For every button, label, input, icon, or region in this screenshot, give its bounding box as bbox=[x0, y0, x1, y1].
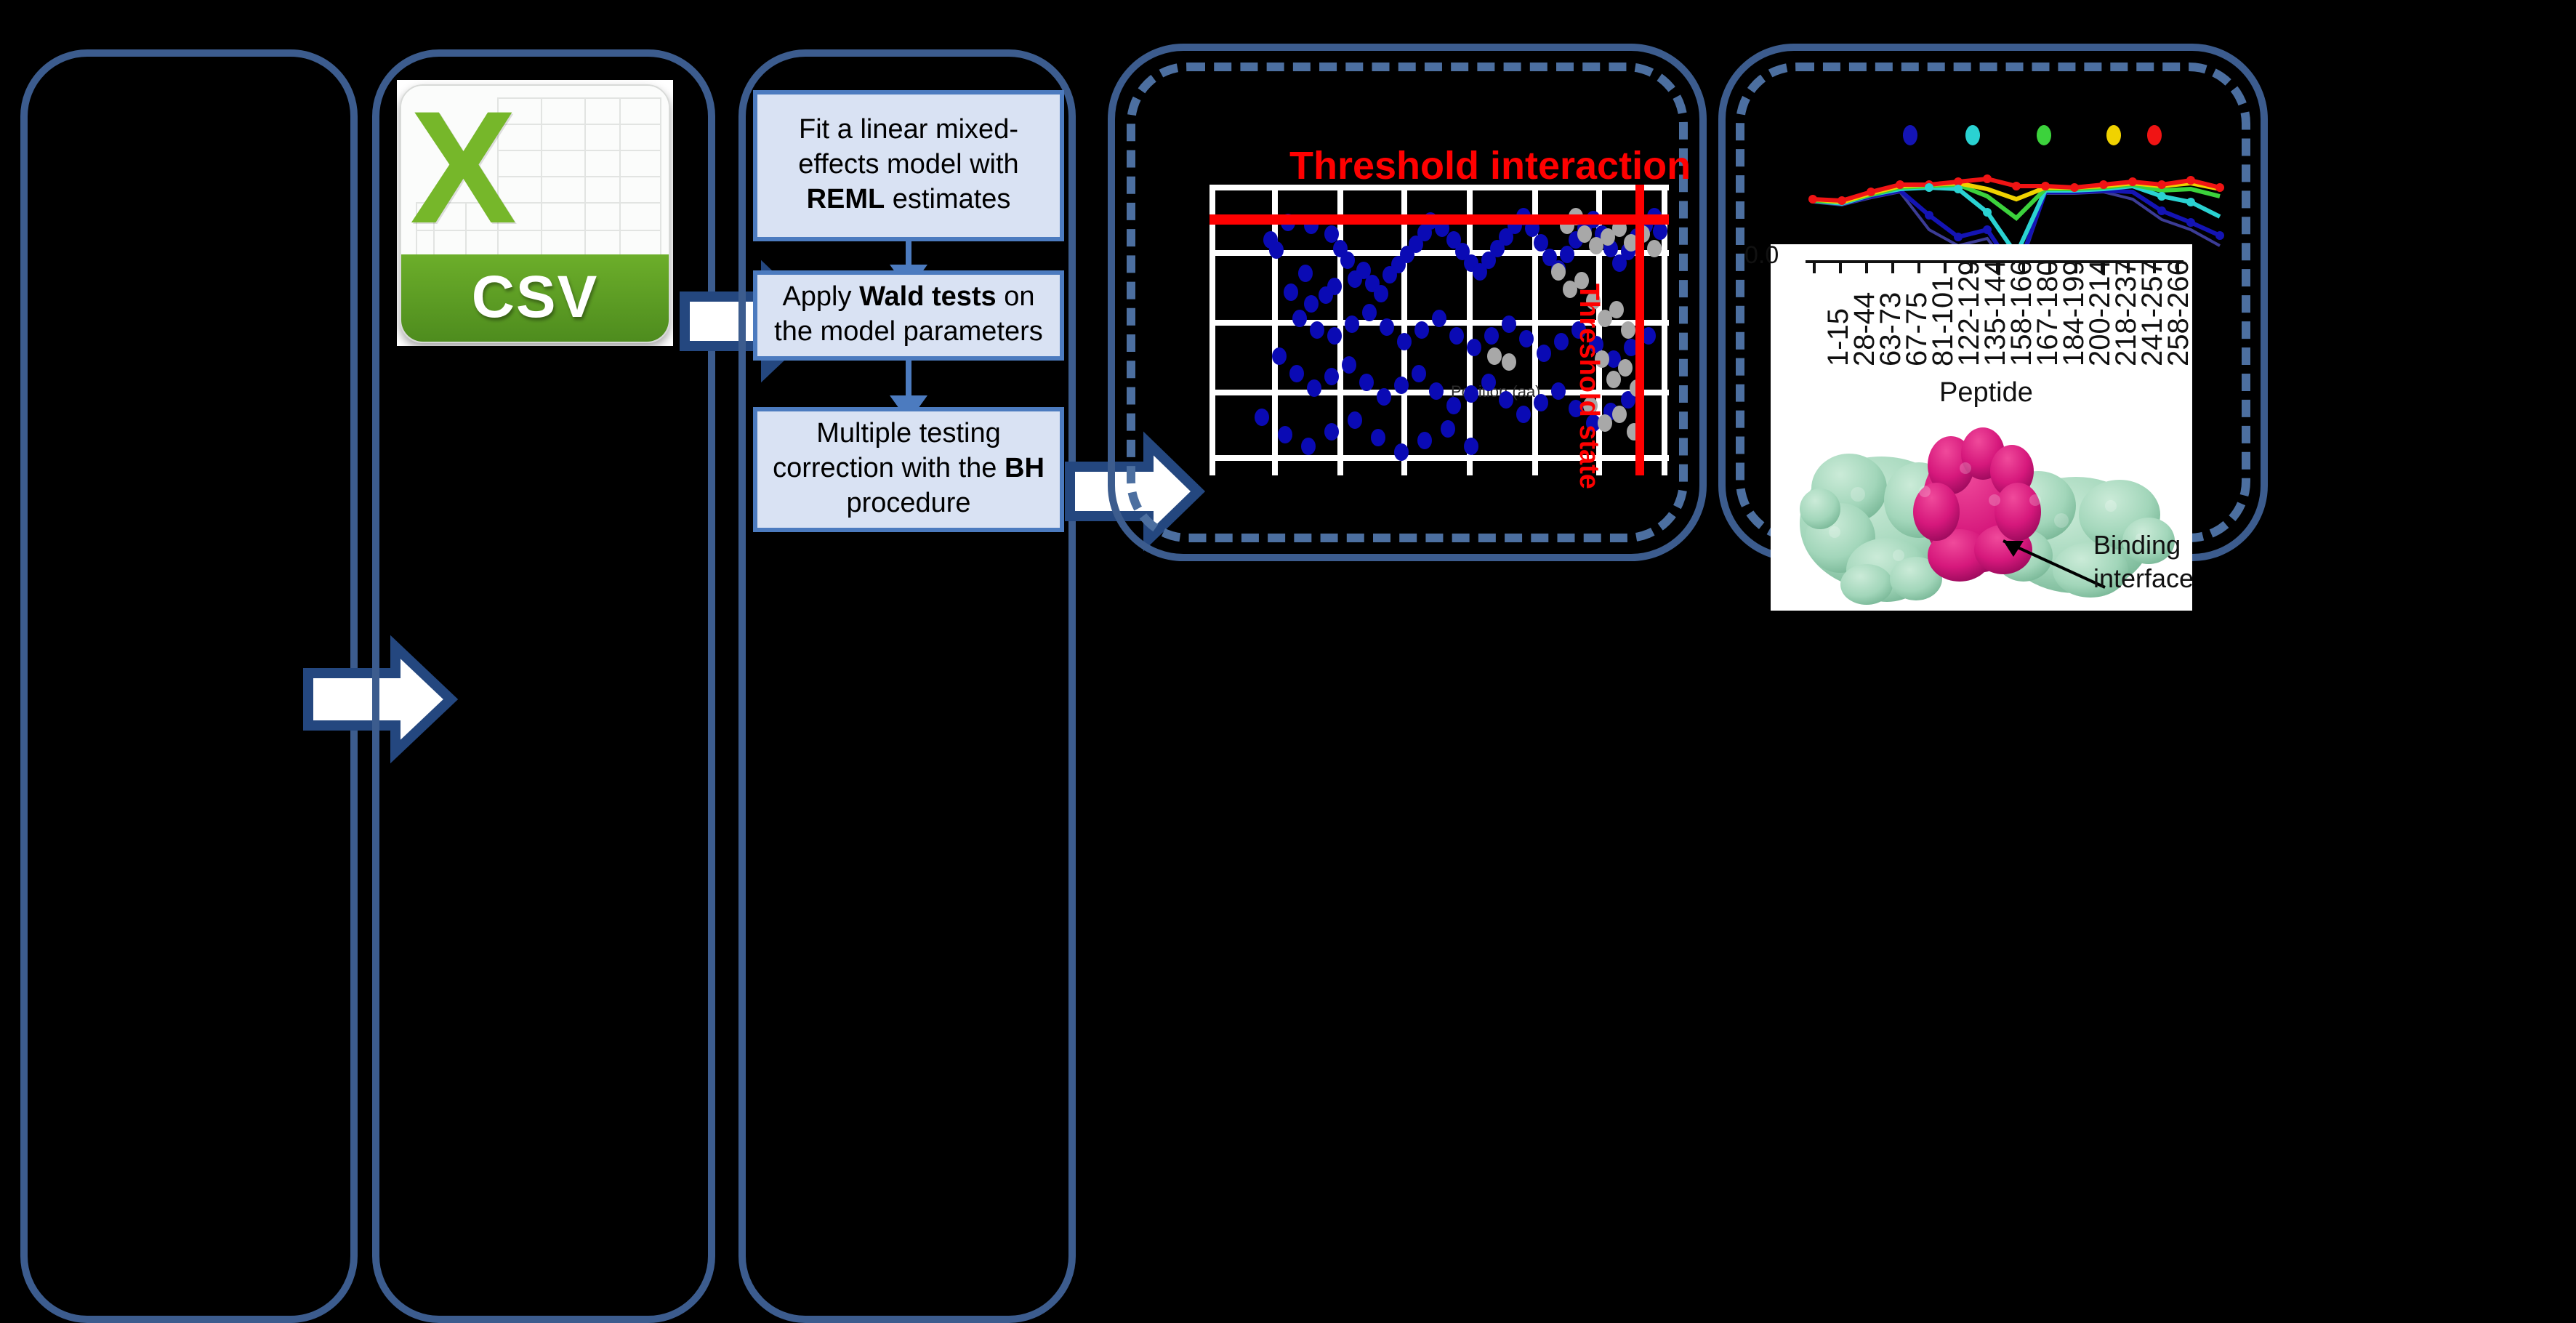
csv-file-card: X CSV bbox=[397, 80, 673, 346]
excel-x-letter: X bbox=[410, 88, 511, 248]
csv-format-label: CSV bbox=[472, 263, 599, 331]
peptide-tick-labels: 1-15 28-44 63-73 67-75 81-101 122-129 13… bbox=[1771, 244, 2192, 375]
threshold-state-label: Threshold state bbox=[1571, 283, 1603, 489]
step-wald-tests-text: Apply Wald tests on the model parameters bbox=[769, 280, 1048, 350]
binding-interface-line1: Binding bbox=[2093, 529, 2192, 562]
legend-dots bbox=[1903, 125, 2162, 145]
spreadsheet-grid: X bbox=[401, 85, 669, 257]
figure-canvas: X CSV Fit a linear mixed-effects model w… bbox=[0, 0, 2576, 686]
binding-interface-annotation: Binding interface bbox=[2093, 529, 2192, 595]
step-fit-model: Fit a linear mixed-effects model with RE… bbox=[753, 90, 1064, 241]
step-fit-model-text: Fit a linear mixed-effects model with RE… bbox=[769, 113, 1048, 219]
step-multiple-testing-text: Multiple testing correction with the BH … bbox=[769, 417, 1048, 523]
peptide-y-axis-zero-label: 0.0 bbox=[1744, 241, 1779, 270]
csv-label-band: CSV bbox=[401, 254, 669, 341]
scatter-title: Threshold interaction bbox=[1289, 144, 1691, 189]
scatter-plot: Threshold interaction bbox=[1148, 80, 1672, 516]
binding-interface-line2: interface bbox=[2093, 562, 2192, 595]
csv-file-icon: X CSV bbox=[400, 84, 670, 342]
connector-1 bbox=[906, 241, 911, 268]
tick-label: 277-284 bbox=[2189, 260, 2192, 366]
structure-card: 1-15 28-44 63-73 67-75 81-101 122-129 13… bbox=[1771, 244, 2192, 611]
step-multiple-testing: Multiple testing correction with the BH … bbox=[753, 407, 1064, 532]
peptide-axis-label: Peptide bbox=[1939, 378, 2033, 410]
tick-label: 258-266 bbox=[2163, 260, 2192, 366]
step-wald-tests: Apply Wald tests on the model parameters bbox=[753, 270, 1064, 361]
